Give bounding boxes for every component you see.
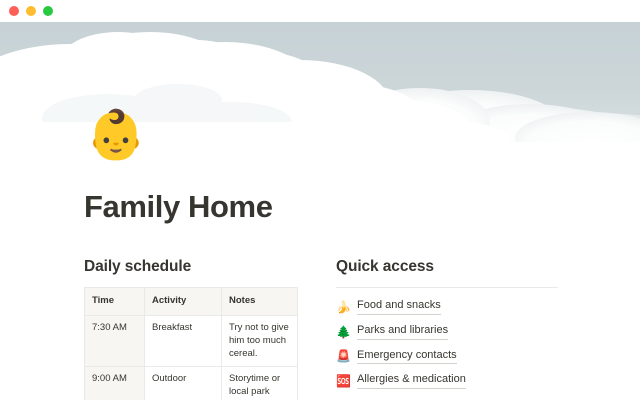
quick-access-label[interactable]: Emergency contacts [357, 349, 457, 365]
cell-activity[interactable]: Breakfast [145, 315, 222, 366]
cell-time[interactable]: 7:30 AM [85, 315, 145, 366]
page-icon[interactable]: 👶 [86, 112, 146, 160]
quick-access-list: 🍌 Food and snacks 🌲 Parks and libraries … [336, 299, 560, 389]
quick-access-heading: Quick access [336, 258, 560, 276]
table-header: Time Activity Notes [85, 288, 298, 316]
traffic-light-group [9, 6, 53, 16]
daily-schedule-heading: Daily schedule [84, 258, 298, 276]
cell-notes[interactable]: Try not to give him too much cereal. [222, 315, 298, 366]
emergency-icon: 🚨 [336, 350, 350, 362]
close-window-button[interactable] [9, 6, 19, 16]
table-header-row: Time Activity Notes [85, 288, 298, 316]
cell-time[interactable]: 9:00 AM [85, 367, 145, 400]
column-header-time[interactable]: Time [85, 288, 145, 316]
quick-access-item-emergency[interactable]: 🚨 Emergency contacts [336, 349, 560, 365]
daily-schedule-column: Daily schedule Time Activity Notes 7:30 … [84, 258, 298, 400]
quick-access-column: Quick access 🍌 Food and snacks 🌲 Parks a… [336, 258, 560, 400]
quick-access-item-food[interactable]: 🍌 Food and snacks [336, 299, 560, 315]
two-column-layout: Daily schedule Time Activity Notes 7:30 … [0, 258, 640, 400]
cell-notes[interactable]: Storytime or local park [222, 367, 298, 400]
maximize-window-button[interactable] [43, 6, 53, 16]
table-row[interactable]: 7:30 AM Breakfast Try not to give him to… [85, 315, 298, 366]
window-titlebar [0, 0, 640, 22]
app-window: 👶 Family Home Daily schedule Time Activi… [0, 0, 640, 400]
quick-access-label[interactable]: Parks and libraries [357, 324, 448, 340]
sos-icon: 🆘 [336, 375, 350, 387]
minimize-window-button[interactable] [26, 6, 36, 16]
page-title[interactable]: Family Home [84, 190, 640, 224]
cell-activity[interactable]: Outdoor [145, 367, 222, 400]
evergreen-tree-icon: 🌲 [336, 326, 350, 338]
quick-access-label[interactable]: Allergies & medication [357, 373, 466, 389]
quick-access-item-allergies[interactable]: 🆘 Allergies & medication [336, 373, 560, 389]
banana-icon: 🍌 [336, 301, 350, 313]
page-content: Family Home Daily schedule Time Activity… [0, 142, 640, 400]
quick-access-divider [336, 287, 558, 288]
daily-schedule-table[interactable]: Time Activity Notes 7:30 AM Breakfast Tr… [84, 287, 298, 400]
table-row[interactable]: 9:00 AM Outdoor Storytime or local park [85, 367, 298, 400]
quick-access-label[interactable]: Food and snacks [357, 299, 441, 315]
column-header-activity[interactable]: Activity [145, 288, 222, 316]
table-body: 7:30 AM Breakfast Try not to give him to… [85, 315, 298, 400]
quick-access-item-parks[interactable]: 🌲 Parks and libraries [336, 324, 560, 340]
column-header-notes[interactable]: Notes [222, 288, 298, 316]
